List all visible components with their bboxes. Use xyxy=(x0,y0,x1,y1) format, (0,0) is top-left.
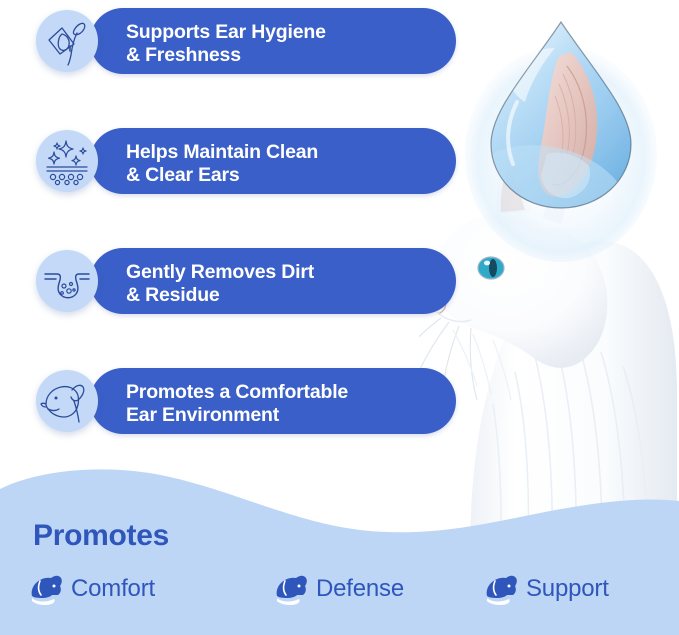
promotes-item[interactable]: Comfort xyxy=(28,566,155,612)
feature-row[interactable]: Supports Ear Hygiene & Freshness xyxy=(36,8,456,80)
feature-text: Promotes a Comfortable Ear Environment xyxy=(126,381,396,427)
feature-line: Promotes a Comfortable xyxy=(126,381,396,404)
feature-line: Gently Removes Dirt xyxy=(126,261,396,284)
feature-text: Gently Removes Dirt & Residue xyxy=(126,261,396,307)
feature-row[interactable]: Helps Maintain Clean & Clear Ears xyxy=(36,128,456,200)
feature-line: & Residue xyxy=(126,284,396,307)
feature-line: & Freshness xyxy=(126,44,396,67)
ear-swab-icon xyxy=(36,10,98,72)
feature-row[interactable]: Gently Removes Dirt & Residue xyxy=(36,248,456,320)
feature-line: Supports Ear Hygiene xyxy=(126,21,396,44)
feature-line: Ear Environment xyxy=(126,404,396,427)
dog-head-icon xyxy=(273,572,309,606)
feature-row[interactable]: Promotes a Comfortable Ear Environment xyxy=(36,368,456,440)
feature-list: Supports Ear Hygiene & Freshness xyxy=(0,0,470,460)
product-infographic: Supports Ear Hygiene & Freshness xyxy=(0,0,679,635)
dog-head-icon xyxy=(28,572,64,606)
promotes-item[interactable]: Support xyxy=(483,566,609,612)
feature-text: Supports Ear Hygiene & Freshness xyxy=(126,21,396,67)
sparkle-clean-surface-icon xyxy=(36,130,98,192)
feature-text: Helps Maintain Clean & Clear Ears xyxy=(126,141,396,187)
dog-head-ear-applicator-icon xyxy=(36,370,98,432)
promotes-item-label: Support xyxy=(526,575,609,603)
promotes-item[interactable]: Defense xyxy=(273,566,404,612)
promotes-item-list: Comfort Defense Support xyxy=(28,566,668,612)
feature-line: & Clear Ears xyxy=(126,164,396,187)
dog-head-icon xyxy=(483,572,519,606)
promotes-title: Promotes xyxy=(33,519,169,553)
water-droplet xyxy=(465,22,657,262)
promotes-item-label: Defense xyxy=(316,575,404,603)
feature-line: Helps Maintain Clean xyxy=(126,141,396,164)
pore-dirt-removal-icon xyxy=(36,250,98,312)
promotes-item-label: Comfort xyxy=(71,575,155,603)
